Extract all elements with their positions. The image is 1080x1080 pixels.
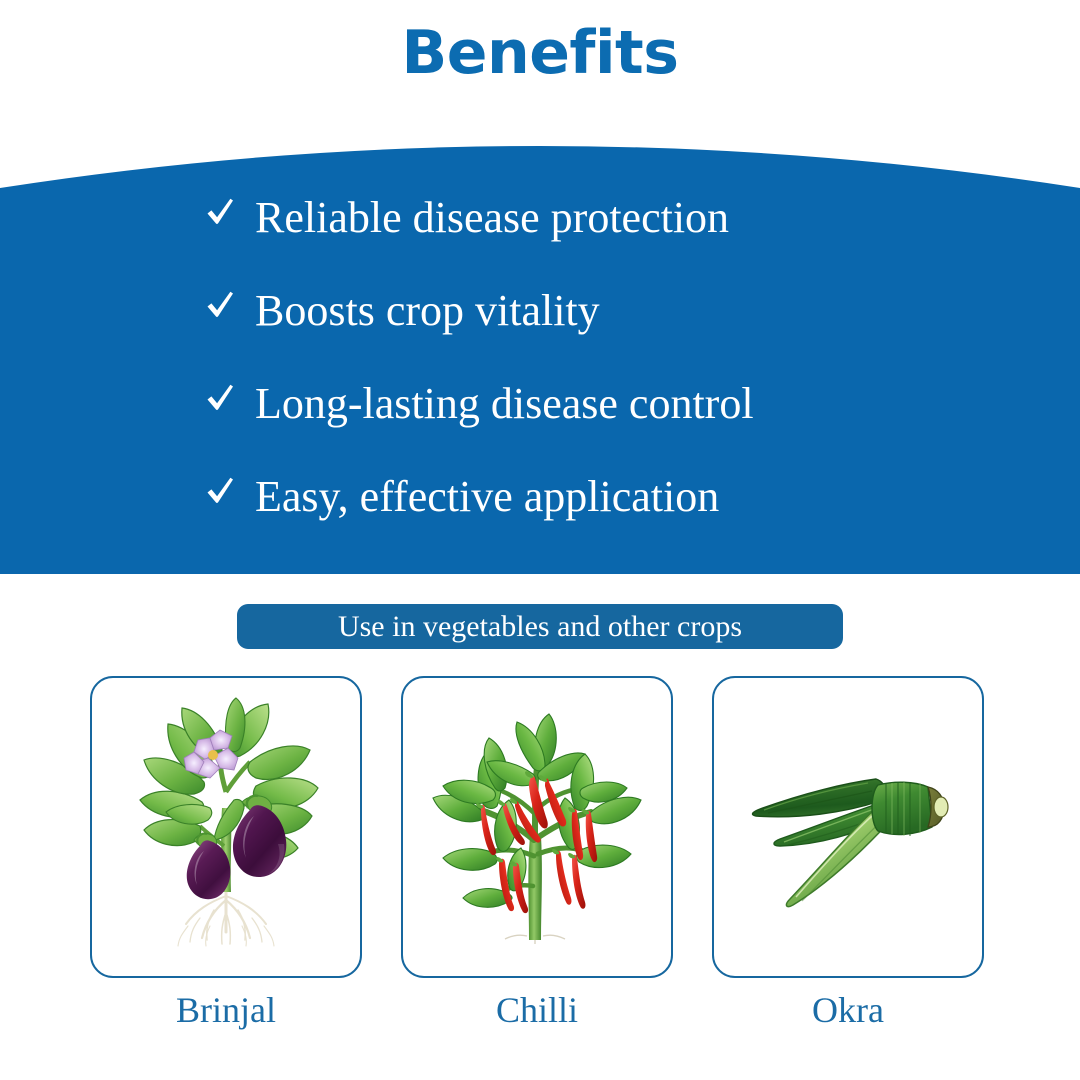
benefit-item: Boosts crop vitality <box>205 289 600 333</box>
crop-cell-chilli: Chilli <box>401 676 673 1056</box>
crop-card-brinjal[interactable] <box>90 676 362 978</box>
crop-cell-okra: Okra <box>712 676 984 1056</box>
crop-caption: Brinjal <box>176 992 276 1028</box>
check-icon <box>205 382 235 416</box>
benefit-item: Reliable disease protection <box>205 196 729 240</box>
benefit-label: Easy, effective application <box>255 475 719 519</box>
crop-cards-row: Brinjal <box>90 676 990 1056</box>
check-icon <box>205 475 235 509</box>
benefit-label: Long-lasting disease control <box>255 382 754 426</box>
benefits-banner: Reliable disease protection Boosts crop … <box>0 118 1080 574</box>
benefits-list: Reliable disease protection Boosts crop … <box>0 118 1080 574</box>
okra-pods-icon <box>728 727 968 927</box>
benefits-infographic: Benefits Reliable disease protection <box>0 0 1080 1080</box>
brinjal-plant-icon <box>110 696 342 958</box>
benefit-item: Easy, effective application <box>205 475 719 519</box>
check-icon <box>205 289 235 323</box>
benefit-item: Long-lasting disease control <box>205 382 754 426</box>
benefit-label: Boosts crop vitality <box>255 289 600 333</box>
page-title: Benefits <box>0 22 1080 85</box>
benefit-label: Reliable disease protection <box>255 196 729 240</box>
usage-badge: Use in vegetables and other crops <box>237 604 843 649</box>
crop-card-okra[interactable] <box>712 676 984 978</box>
usage-badge-label: Use in vegetables and other crops <box>338 612 742 642</box>
crop-card-chilli[interactable] <box>401 676 673 978</box>
crop-cell-brinjal: Brinjal <box>90 676 362 1056</box>
crop-caption: Okra <box>812 992 884 1028</box>
check-icon <box>205 196 235 230</box>
chilli-plant-icon <box>421 696 653 958</box>
crop-caption: Chilli <box>496 992 578 1028</box>
